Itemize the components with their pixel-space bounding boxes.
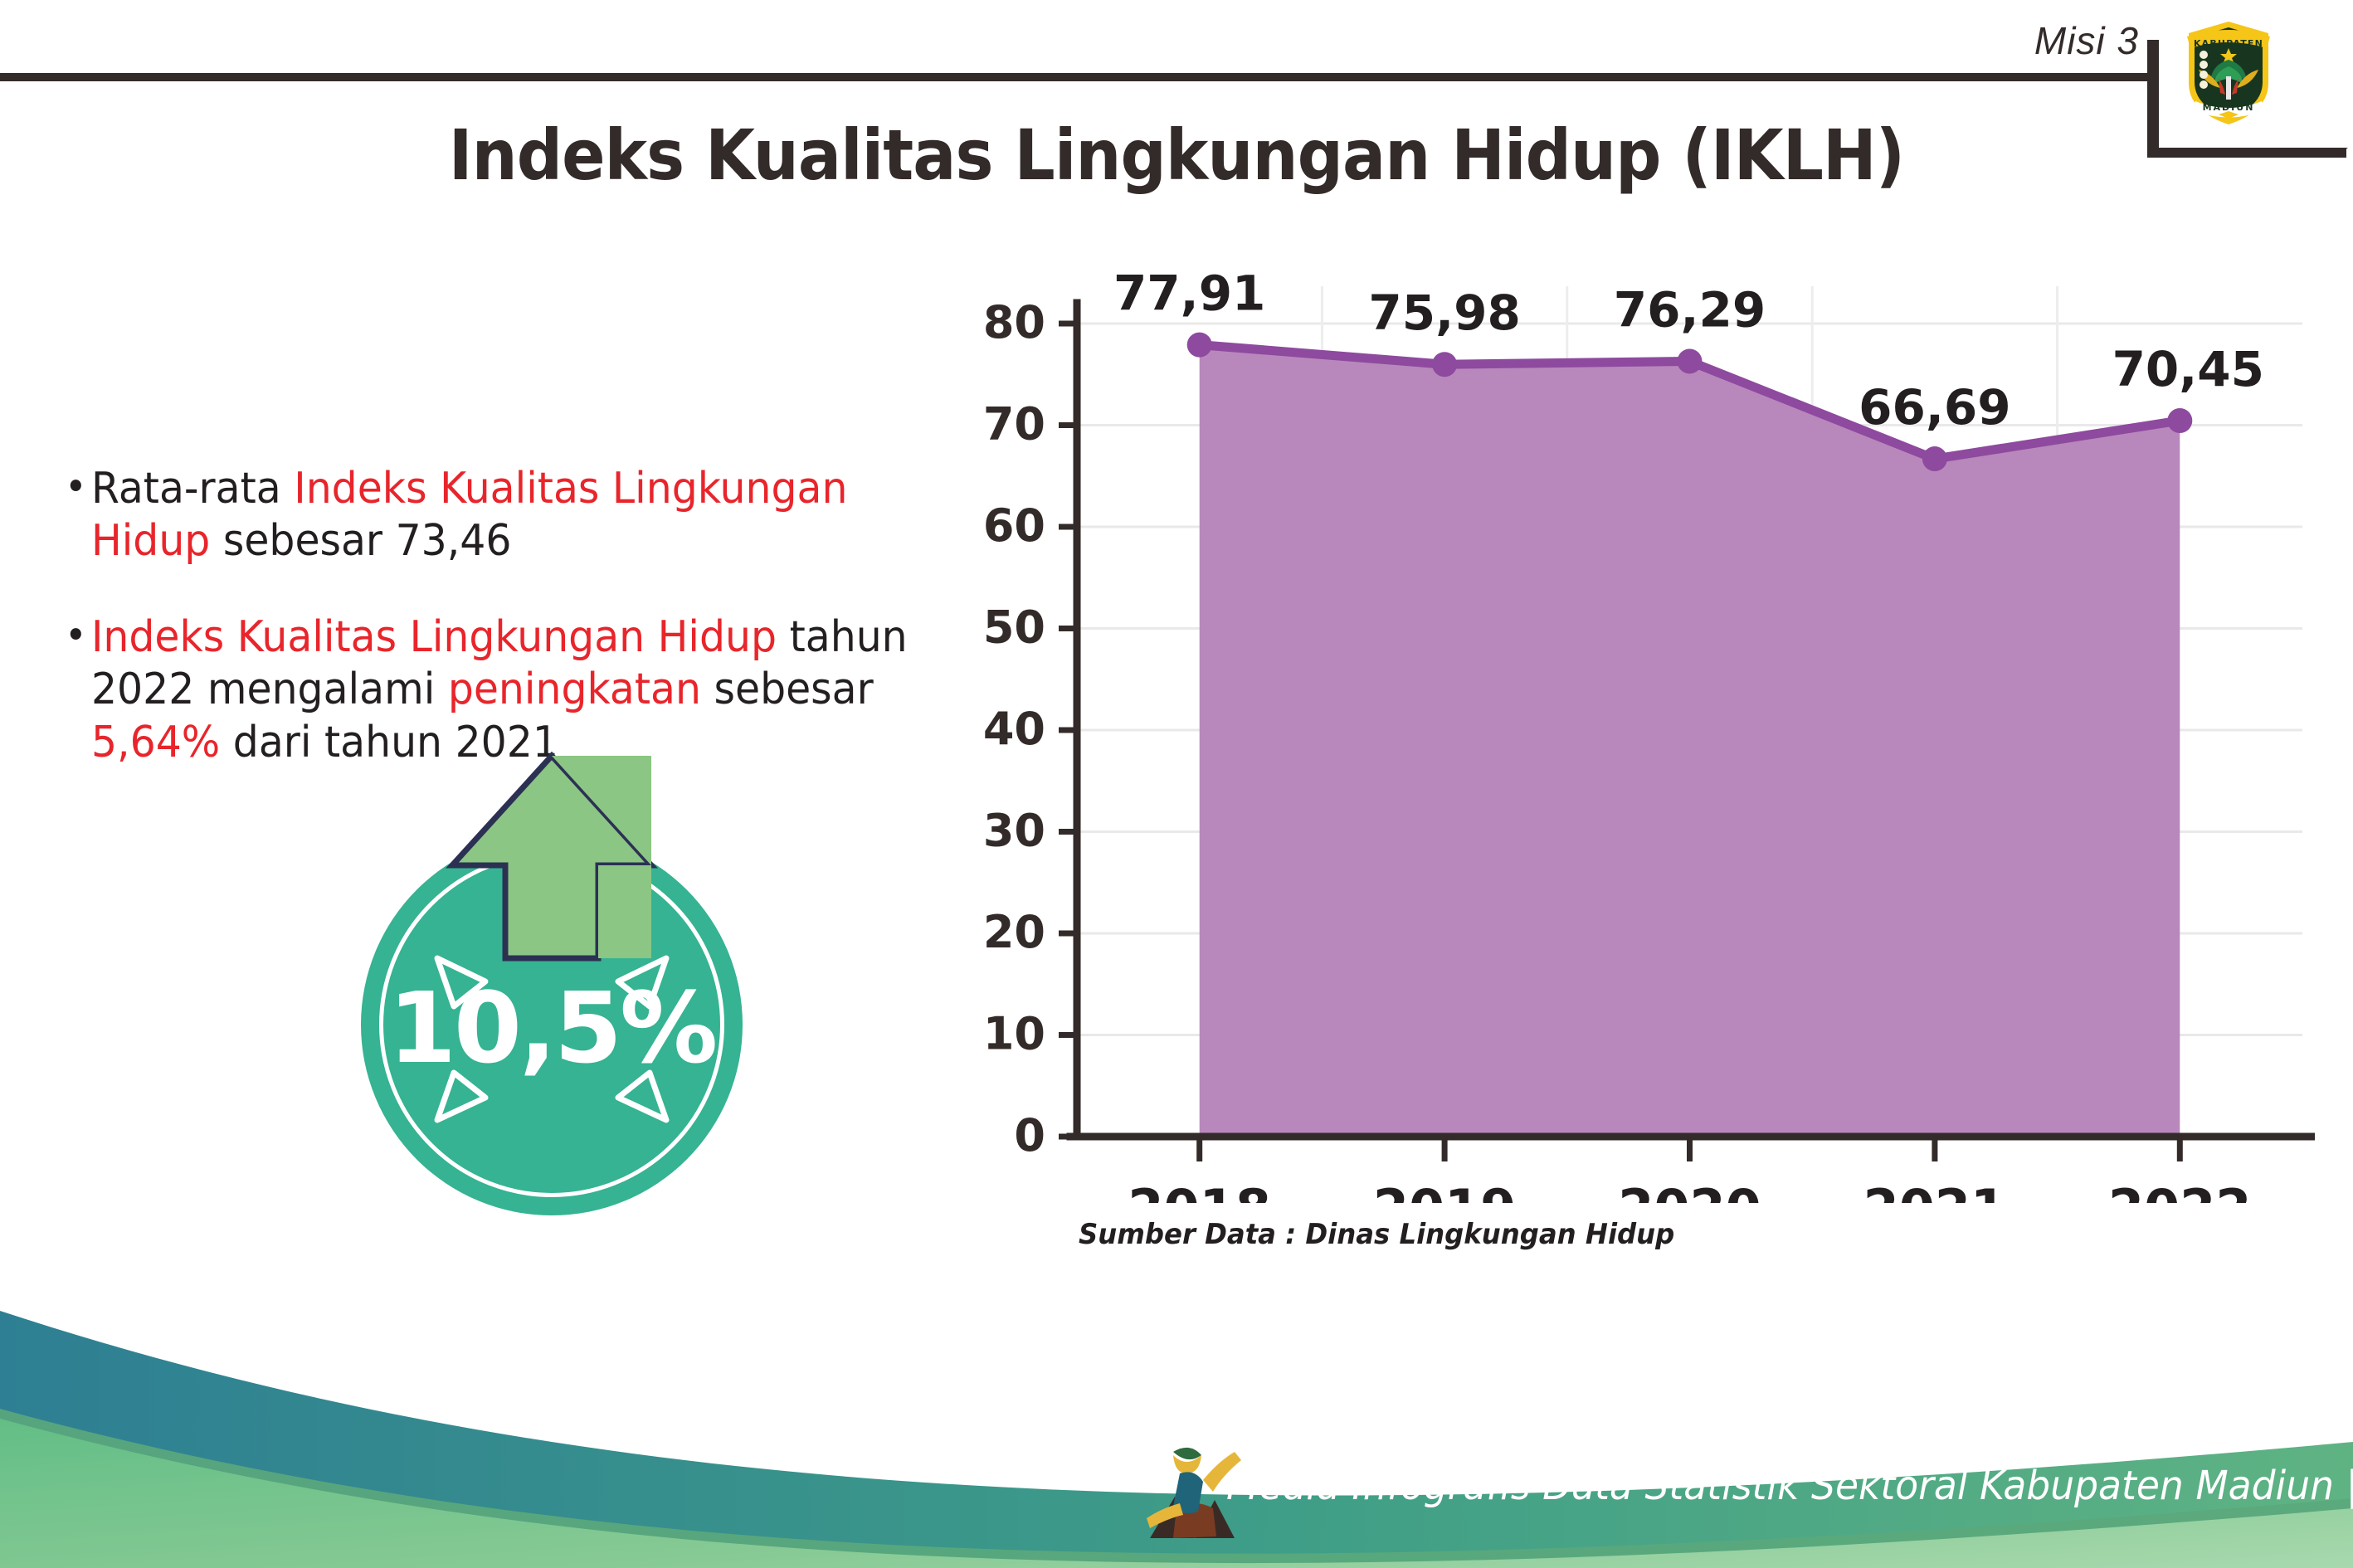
y-axis-tick-label: 70 [983,398,1045,450]
data-point-label: 66,69 [1859,379,2010,436]
y-axis-tick-label: 40 [983,703,1045,755]
bullet-item-average: Rata-rata Indeks Kualitas Lingkungan Hid… [65,463,923,568]
bullet-item-increase: Indeks Kualitas Lingkungan Hidup tahun 2… [65,611,923,769]
y-axis-tick-label: 0 [1014,1109,1045,1161]
x-axis-tick-label: 2018 [1128,1178,1271,1203]
y-axis-tick-label: 20 [983,906,1045,958]
increase-badge: 10,5% [328,751,759,1215]
y-axis-tick-label: 50 [983,601,1045,654]
badge-value: 10,5% [361,971,743,1085]
y-axis-tick-label: 10 [983,1008,1045,1060]
iklh-area-chart: 010203040506070802018201920202021202277,… [979,274,2315,1203]
y-axis-tick-label: 30 [983,805,1045,857]
infographic-page: Misi 3 KABUPATEN MADIUN Indeks Kualitas … [0,0,2353,1568]
source-note: Sumber Data : Dinas Lingkungan Hidup [1079,1218,1674,1251]
x-axis-tick-label: 2021 [1863,1178,2007,1203]
svg-text:KABUPATEN: KABUPATEN [2194,38,2263,49]
page-title: Indeks Kualitas Lingkungan Hidup (IKLH) [94,114,2258,196]
mission-label: Misi 3 [2034,18,2139,63]
footer-text: Media Infografis Data Statistik Sektoral… [1226,1463,2353,1509]
data-point-label: 75,98 [1368,285,1520,341]
data-point-label: 70,45 [2112,341,2264,397]
x-axis-tick-label: 2020 [1618,1178,1761,1203]
header-divider-line [0,73,2156,81]
data-point-label: 76,29 [1614,281,1766,338]
x-axis-tick-label: 2022 [2108,1178,2252,1203]
x-axis-tick-label: 2019 [1373,1178,1517,1203]
bullet-text-2: Indeks Kualitas Lingkungan Hidup tahun 2… [91,612,908,767]
data-point-label: 77,91 [1113,274,1265,322]
y-axis-tick-label: 80 [983,296,1045,348]
y-axis-tick-label: 60 [983,499,1045,552]
kabupaten-madiun-logo-icon: KABUPATEN MADIUN [2182,18,2275,128]
bullet-text-1: Rata-rata Indeks Kualitas Lingkungan Hid… [91,464,848,566]
